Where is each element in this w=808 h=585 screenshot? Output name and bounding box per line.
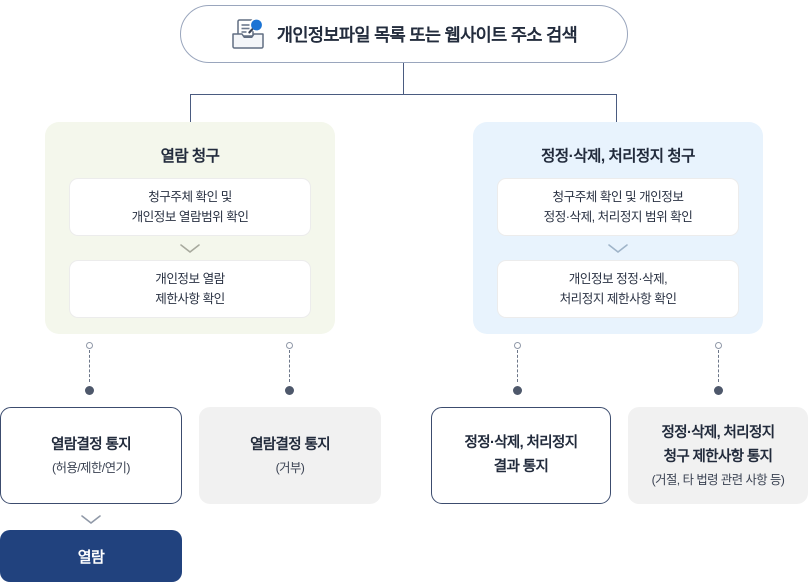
connector-to-left — [190, 94, 191, 123]
step-line: 청구주체 확인 및 개인정보 — [553, 188, 684, 206]
drop-dot-icon — [714, 386, 723, 395]
branch-view-request: 열람 청구 청구주체 확인 및 개인정보 열람범위 확인 개인정보 열람 제한사… — [45, 122, 335, 334]
drop-dash — [289, 350, 290, 382]
drop-connector — [85, 342, 95, 395]
drop-connector — [285, 342, 295, 395]
branch-step-card: 청구주체 확인 및 개인정보 정정·삭제, 처리정지 범위 확인 — [497, 178, 739, 236]
flowchart-diagram: 개인정보파일 목록 또는 웹사이트 주소 검색 열람 청구 청구주체 확인 및 … — [0, 0, 808, 585]
result-correction-restriction[interactable]: 정정·삭제, 처리정지 청구 제한사항 통지 (거절, 타 법령 관련 사항 등… — [628, 407, 808, 504]
branch-title: 열람 청구 — [69, 122, 311, 178]
search-entry-pill[interactable]: 개인정보파일 목록 또는 웹사이트 주소 검색 — [180, 5, 628, 63]
drop-dot-icon — [513, 386, 522, 395]
step-line: 개인정보 정정·삭제, — [569, 270, 667, 288]
result-sub: (허용/제한/연기) — [52, 458, 130, 476]
branch-step-card: 개인정보 열람 제한사항 확인 — [69, 260, 311, 318]
result-line: 정정·삭제, 처리정지 — [661, 423, 774, 444]
chevron-down-icon — [497, 236, 739, 260]
result-line: 정정·삭제, 처리정지 — [464, 433, 577, 454]
result-view-decision-allow[interactable]: 열람결정 통지 (허용/제한/연기) — [0, 407, 182, 504]
drop-dash — [89, 350, 90, 382]
branch-title: 정정·삭제, 처리정지 청구 — [497, 122, 739, 178]
result-line: 열람결정 통지 — [250, 435, 330, 456]
document-search-icon — [231, 18, 265, 50]
drop-connector — [513, 342, 523, 395]
connector-horizontal — [190, 94, 617, 95]
search-entry-label: 개인정보파일 목록 또는 웹사이트 주소 검색 — [277, 22, 577, 47]
branch-step-card: 개인정보 정정·삭제, 처리정지 제한사항 확인 — [497, 260, 739, 318]
result-line: 결과 통지 — [494, 457, 548, 478]
step-line: 정정·삭제, 처리정지 범위 확인 — [544, 208, 693, 226]
drop-ring-icon — [86, 342, 93, 349]
result-sub: (거절, 타 법령 관련 사항 등) — [652, 470, 785, 488]
step-line: 제한사항 확인 — [155, 290, 225, 308]
step-line: 처리정지 제한사항 확인 — [560, 290, 677, 308]
drop-dot-icon — [85, 386, 94, 395]
step-line: 개인정보 열람 — [155, 270, 225, 288]
result-sub: (거부) — [276, 458, 305, 476]
result-view-decision-reject[interactable]: 열람결정 통지 (거부) — [199, 407, 381, 504]
final-action-box[interactable]: 열람 — [0, 530, 182, 582]
drop-ring-icon — [286, 342, 293, 349]
result-correction-outcome[interactable]: 정정·삭제, 처리정지 결과 통지 — [431, 407, 611, 504]
drop-connector — [714, 342, 724, 395]
chevron-down-icon — [0, 506, 182, 532]
drop-ring-icon — [514, 342, 521, 349]
drop-dash — [718, 350, 719, 382]
connector-stem — [403, 63, 404, 95]
branch-step-card: 청구주체 확인 및 개인정보 열람범위 확인 — [69, 178, 311, 236]
connector-to-right — [616, 94, 617, 123]
chevron-down-icon — [69, 236, 311, 260]
final-action-label: 열람 — [78, 546, 105, 567]
drop-ring-icon — [715, 342, 722, 349]
step-line: 개인정보 열람범위 확인 — [132, 208, 249, 226]
branch-correction-request: 정정·삭제, 처리정지 청구 청구주체 확인 및 개인정보 정정·삭제, 처리정… — [473, 122, 763, 334]
drop-dot-icon — [285, 386, 294, 395]
result-line: 열람결정 통지 — [51, 435, 131, 456]
step-line: 청구주체 확인 및 — [148, 188, 232, 206]
drop-dash — [517, 350, 518, 382]
result-line: 청구 제한사항 통지 — [664, 447, 773, 468]
